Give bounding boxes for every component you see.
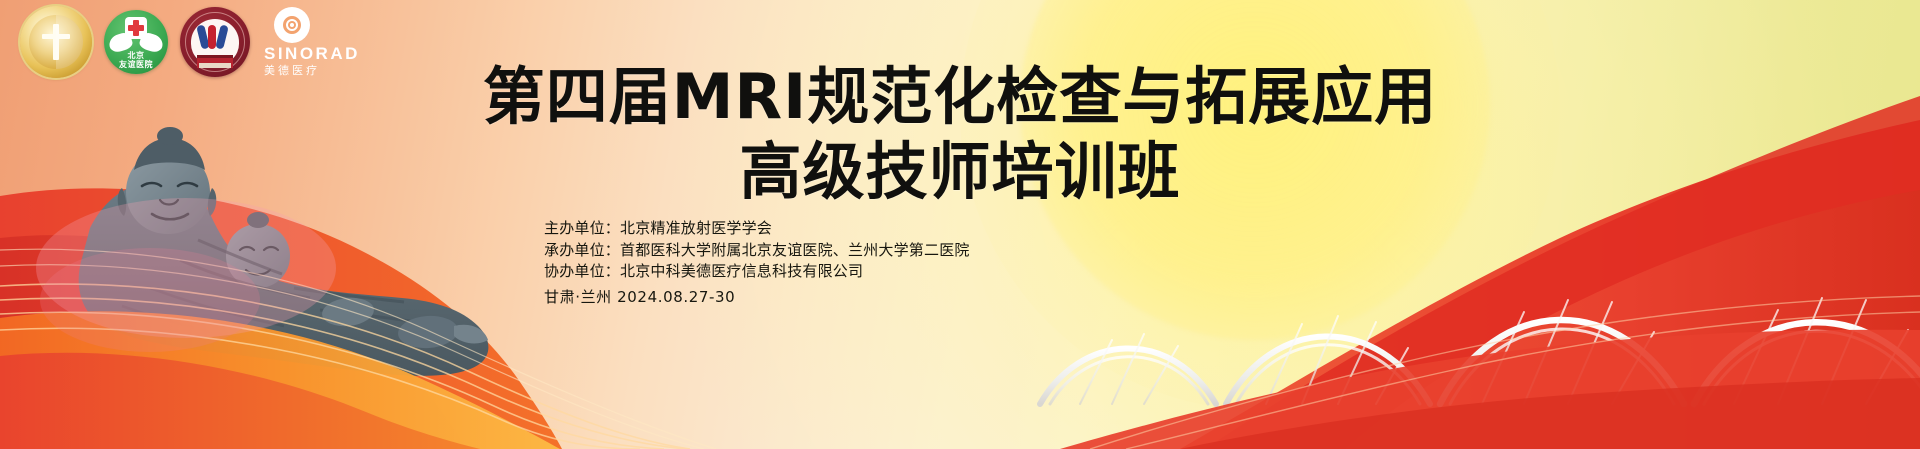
- sinorad-logo: SINORAD 美德医疗: [264, 7, 360, 78]
- youyi-hospital-logo-text: 北京 友谊医院: [104, 51, 168, 69]
- beijing-precision-radiology-society-logo: [20, 6, 92, 78]
- conference-banner: 北京 友谊医院 SINORAD 美德医疗 第四届MRI规范化检查与拓展应用 高级…: [0, 0, 1920, 449]
- location-and-date: 甘肃·兰州 2024.08.27-30: [544, 287, 970, 309]
- page-title-line2: 高级技师培训班: [0, 136, 1920, 208]
- organizer-line-undertaker: 承办单位：首都医科大学附属北京友谊医院、兰州大学第二医院: [544, 240, 970, 262]
- organizer-info-block: 主办单位：北京精准放射医学学会 承办单位：首都医科大学附属北京友谊医院、兰州大学…: [544, 218, 970, 308]
- sinorad-eye-icon: [274, 7, 310, 43]
- organizer-line-host: 主办单位：北京精准放射医学学会: [544, 218, 970, 240]
- sinorad-brand-en: SINORAD: [264, 45, 360, 63]
- organizer-line-coorganizer: 协办单位：北京中科美德医疗信息科技有限公司: [544, 261, 970, 283]
- banner-title-block: 第四届MRI规范化检查与拓展应用 高级技师培训班: [0, 62, 1920, 208]
- sinorad-brand-cn: 美德医疗: [264, 64, 320, 78]
- lanzhou-university-second-hospital-logo: [180, 7, 250, 77]
- logo-row: 北京 友谊医院 SINORAD 美德医疗: [20, 6, 360, 78]
- beijing-youyi-hospital-logo: 北京 友谊医院: [104, 10, 168, 74]
